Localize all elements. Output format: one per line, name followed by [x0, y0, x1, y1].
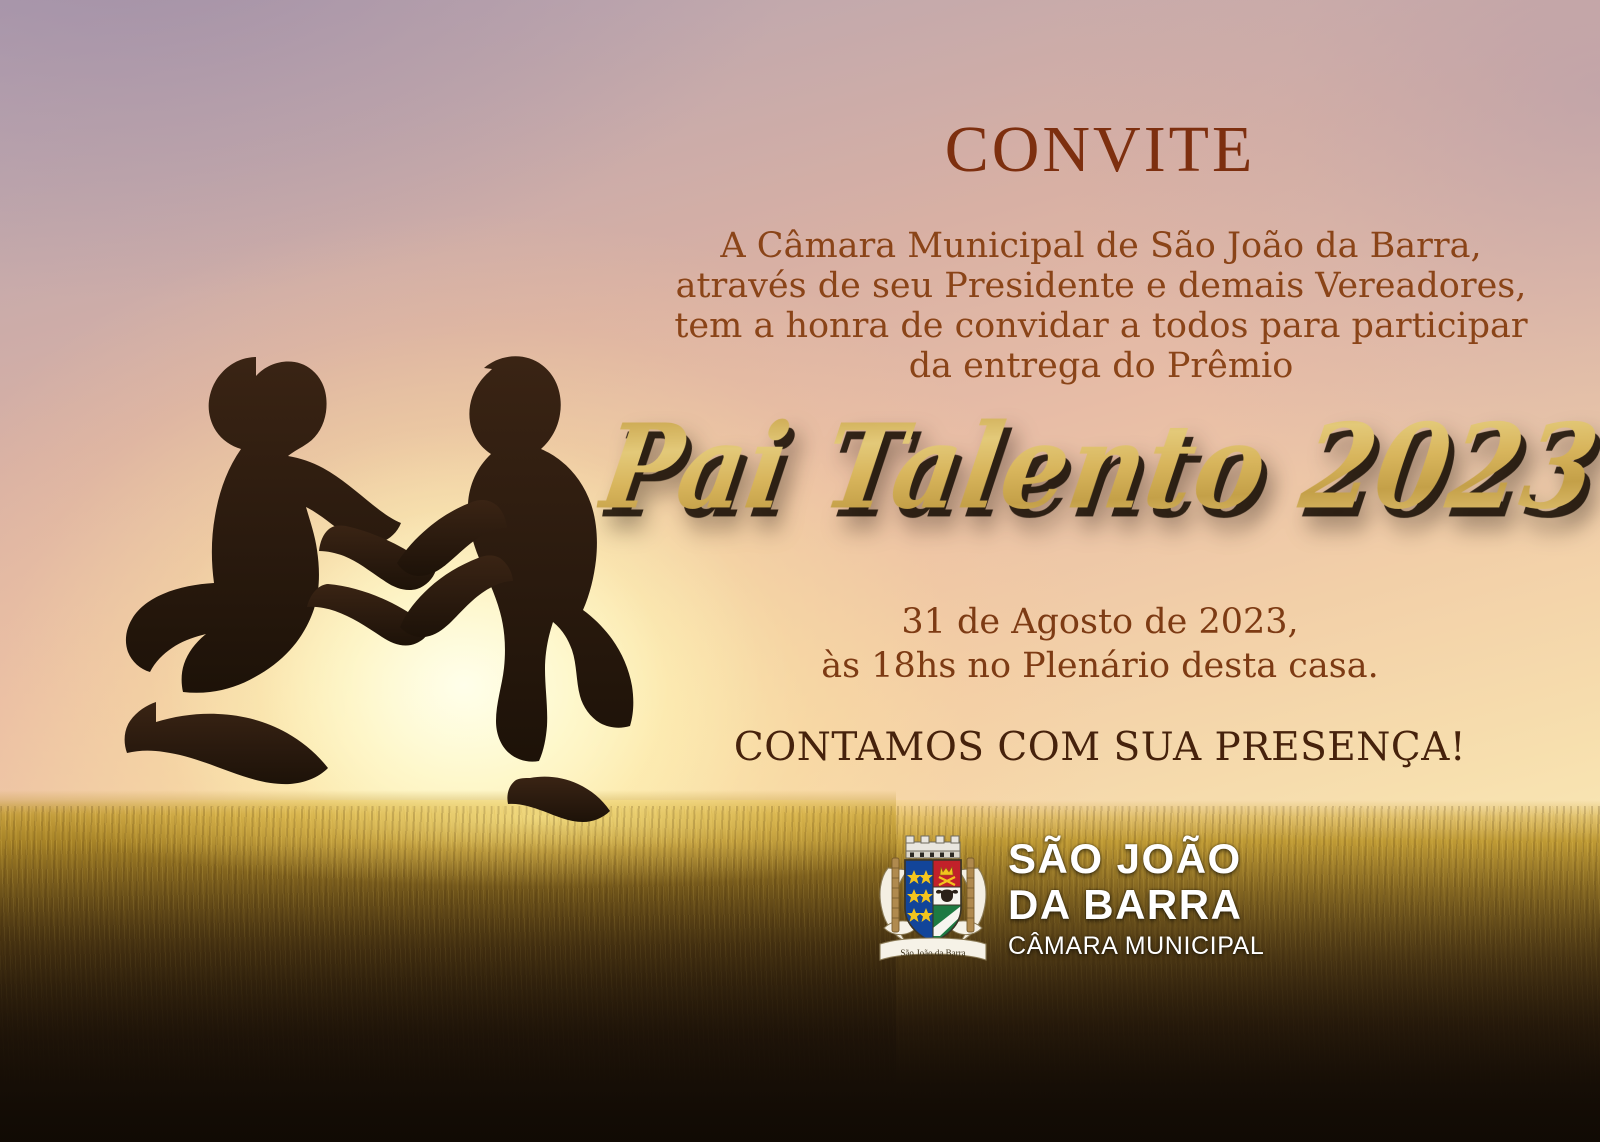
- award-title-wrapper: Pai Talento 2023: [600, 392, 1600, 552]
- event-datetime: 31 de Agosto de 2023, às 18hs no Plenári…: [600, 600, 1600, 688]
- invitation-poster: CONVITE A Câmara Municipal de São João d…: [0, 0, 1600, 1142]
- coat-of-arms-icon: São João da Barra: [874, 832, 992, 964]
- invitation-line-4: da entrega do Prêmio: [606, 346, 1596, 386]
- invitation-text-block: CONVITE A Câmara Municipal de São João d…: [600, 0, 1600, 1142]
- invitation-line-2: através de seu Presidente e demais Verea…: [606, 266, 1596, 306]
- invitation-line-1: A Câmara Municipal de São João da Barra,: [606, 226, 1596, 266]
- call-to-action: CONTAMOS COM SUA PRESENÇA!: [600, 725, 1600, 770]
- wordmark-line-1: SÃO JOÃO: [1008, 838, 1264, 880]
- mural-crown-icon: [906, 836, 960, 858]
- municipal-logo-lockup: São João da Barra SÃO JOÃO DA BARRA CÂMA…: [874, 832, 1264, 964]
- award-title: Pai Talento 2023: [590, 383, 1600, 551]
- wordmark-line-3: CÂMARA MUNICIPAL: [1008, 934, 1264, 959]
- crest-ribbon-text: São João da Barra: [900, 948, 965, 958]
- event-time-location: às 18hs no Plenário desta casa.: [600, 644, 1600, 688]
- page-title: CONVITE: [600, 112, 1600, 188]
- invitation-line-3: tem a honra de convidar a todos para par…: [606, 306, 1596, 346]
- event-date: 31 de Agosto de 2023,: [600, 600, 1600, 644]
- municipality-wordmark: SÃO JOÃO DA BARRA CÂMARA MUNICIPAL: [1008, 838, 1264, 959]
- invitation-body: A Câmara Municipal de São João da Barra,…: [606, 226, 1596, 386]
- wordmark-line-2: DA BARRA: [1008, 884, 1264, 926]
